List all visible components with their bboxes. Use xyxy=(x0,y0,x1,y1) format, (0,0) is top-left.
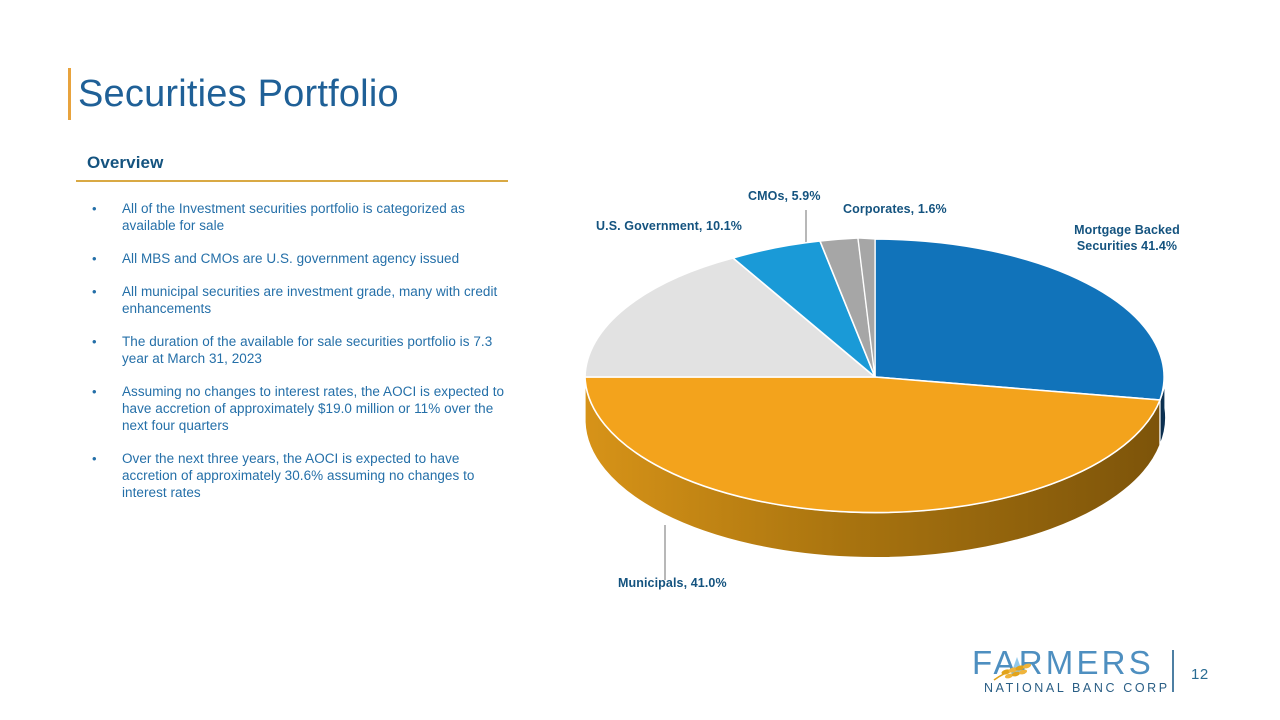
list-item-text: All of the Investment securities portfol… xyxy=(122,200,508,234)
overview-divider xyxy=(76,180,508,182)
list-item: • All of the Investment securities portf… xyxy=(88,200,508,234)
page-number: 12 xyxy=(1191,666,1209,683)
list-item-text: All MBS and CMOs are U.S. government age… xyxy=(122,250,508,267)
logo-wordmark-farmers: FARMERS xyxy=(972,644,1154,681)
pie-label-mbs-line2: Securities 41.4% xyxy=(1077,239,1177,253)
list-item: • All MBS and CMOs are U.S. government a… xyxy=(88,250,508,267)
pie-label-mortgage-backed-securities: Mortgage Backed Securities 41.4% xyxy=(1052,222,1202,254)
bullet-marker-icon: • xyxy=(92,383,97,400)
page-title: Securities Portfolio xyxy=(78,68,399,120)
title-accent-bar xyxy=(68,68,71,120)
securities-allocation-pie-chart: U.S. Government, 10.1% CMOs, 5.9% Corpor… xyxy=(560,180,1240,610)
list-item: • Assuming no changes to interest rates,… xyxy=(88,383,508,434)
list-item: • Over the next three years, the AOCI is… xyxy=(88,450,508,501)
list-item-text: Assuming no changes to interest rates, t… xyxy=(122,383,508,434)
pie-label-cmos: CMOs, 5.9% xyxy=(748,188,821,204)
logo-wordmark-national-banc-corp: NATIONAL BANC CORP. xyxy=(984,681,1168,695)
list-item-text: The duration of the available for sale s… xyxy=(122,333,508,367)
slide-canvas: Securities Portfolio Overview • All of t… xyxy=(0,0,1280,720)
list-item-text: All municipal securities are investment … xyxy=(122,283,508,317)
bullet-marker-icon: • xyxy=(92,450,97,467)
list-item: • The duration of the available for sale… xyxy=(88,333,508,367)
list-item: • All municipal securities are investmen… xyxy=(88,283,508,317)
pie-label-municipals: Municipals, 41.0% xyxy=(618,575,727,591)
bullet-marker-icon: • xyxy=(92,283,97,300)
bullet-marker-icon: • xyxy=(92,200,97,217)
bullet-marker-icon: • xyxy=(92,333,97,350)
pie-label-mbs-line1: Mortgage Backed xyxy=(1074,223,1180,237)
bullet-marker-icon: • xyxy=(92,250,97,267)
pie-label-us-government: U.S. Government, 10.1% xyxy=(596,218,742,234)
overview-bullet-list: • All of the Investment securities portf… xyxy=(88,200,508,517)
pie-label-corporates: Corporates, 1.6% xyxy=(843,201,947,217)
footer-divider xyxy=(1172,650,1174,692)
pie-top-faces xyxy=(585,238,1164,513)
pie-slice-mortgage-backed-securities xyxy=(875,239,1164,400)
list-item-text: Over the next three years, the AOCI is e… xyxy=(122,450,508,501)
overview-heading: Overview xyxy=(87,153,163,173)
farmers-national-banc-corp-logo: FARMERS NATIONAL BANC CORP. xyxy=(972,644,1168,696)
